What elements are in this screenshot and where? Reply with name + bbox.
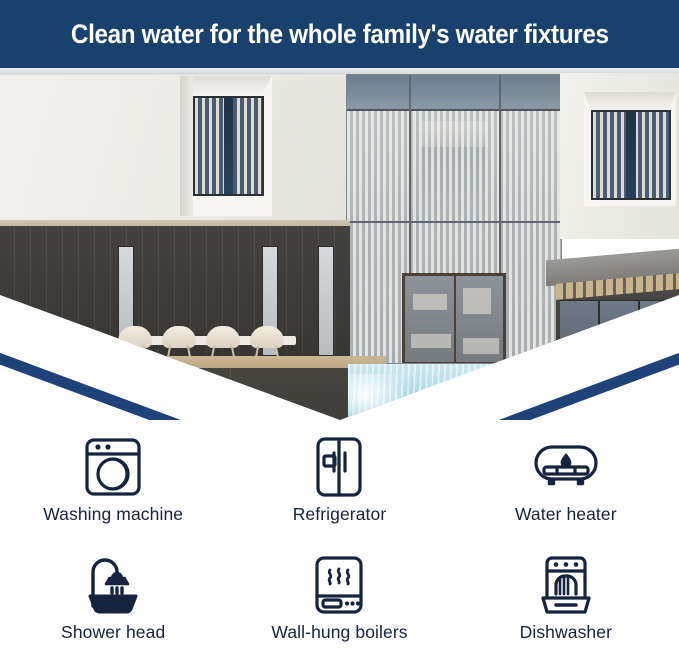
washing-machine-icon (81, 435, 145, 499)
patio-seam (230, 368, 231, 420)
right-glazing-mullion (598, 300, 600, 366)
hero-photo-container (0, 68, 679, 420)
dining-chair (206, 326, 240, 356)
dining-chair (250, 326, 284, 356)
right-recess-soffit (584, 92, 676, 110)
left-window (193, 96, 264, 196)
right-glazing (560, 300, 678, 366)
fixture-label: Wall-hung boilers (271, 623, 407, 642)
house-photo (0, 68, 679, 420)
chair-shell (162, 326, 196, 348)
left-recess-reveal (180, 76, 193, 216)
fixture-label: Shower head (61, 623, 165, 642)
right-glazing-mullion (638, 300, 640, 366)
banner-title: Clean water for the whole family's water… (71, 21, 609, 48)
dining-chair (162, 326, 196, 356)
left-stucco-wall (0, 73, 346, 228)
dining-chair (118, 326, 152, 356)
chair-shell (250, 326, 284, 348)
fixture-label: Refrigerator (293, 505, 387, 524)
left-recess-soffit (180, 76, 272, 96)
interior-furniture (413, 294, 447, 310)
pool-foam (348, 374, 406, 420)
right-window (591, 110, 671, 200)
water-heater-icon (530, 435, 602, 499)
fixture-label: Washing machine (43, 505, 183, 524)
wall-hung-boiler-icon (307, 553, 371, 617)
patio-seam (120, 368, 121, 420)
chair-shell (206, 326, 240, 348)
interior-sofa (411, 334, 451, 348)
shower-head-icon (81, 553, 145, 617)
atrium-sliding-door (402, 273, 506, 364)
refrigerator-icon (307, 435, 371, 499)
interior-seat (463, 338, 499, 354)
atrium-door-divider (454, 276, 456, 362)
slim-window (318, 246, 334, 356)
left-wall-shadow (0, 73, 346, 76)
left-window-gap (224, 98, 233, 194)
fixture-label: Water heater (515, 505, 617, 524)
fixture-item-water-heater[interactable]: Water heater (453, 420, 679, 539)
chair-leg (123, 345, 128, 359)
fixture-label: Dishwasher (520, 623, 612, 642)
chair-shell (118, 326, 152, 348)
fixture-item-washing-machine[interactable]: Washing machine (0, 420, 226, 539)
atrium-transom (347, 221, 561, 223)
fixture-item-dishwasher[interactable]: Dishwasher (453, 539, 679, 657)
right-window-gap (626, 112, 636, 198)
dishwasher-icon (532, 553, 600, 617)
fixture-item-wall-hung-boilers[interactable]: Wall-hung boilers (226, 539, 452, 657)
fixture-item-shower-head[interactable]: Shower head (0, 539, 226, 657)
fixture-item-refrigerator[interactable]: Refrigerator (226, 420, 452, 539)
interior-artwork (463, 288, 491, 314)
fixtures-grid: Washing machine Refrigerator (0, 420, 679, 657)
glass-atrium (346, 74, 562, 364)
header-banner: Clean water for the whole family's water… (0, 0, 679, 68)
atrium-clerestory (347, 75, 561, 111)
product-infographic-page: Clean water for the whole family's water… (0, 0, 679, 657)
timber-deck-right (540, 360, 679, 372)
